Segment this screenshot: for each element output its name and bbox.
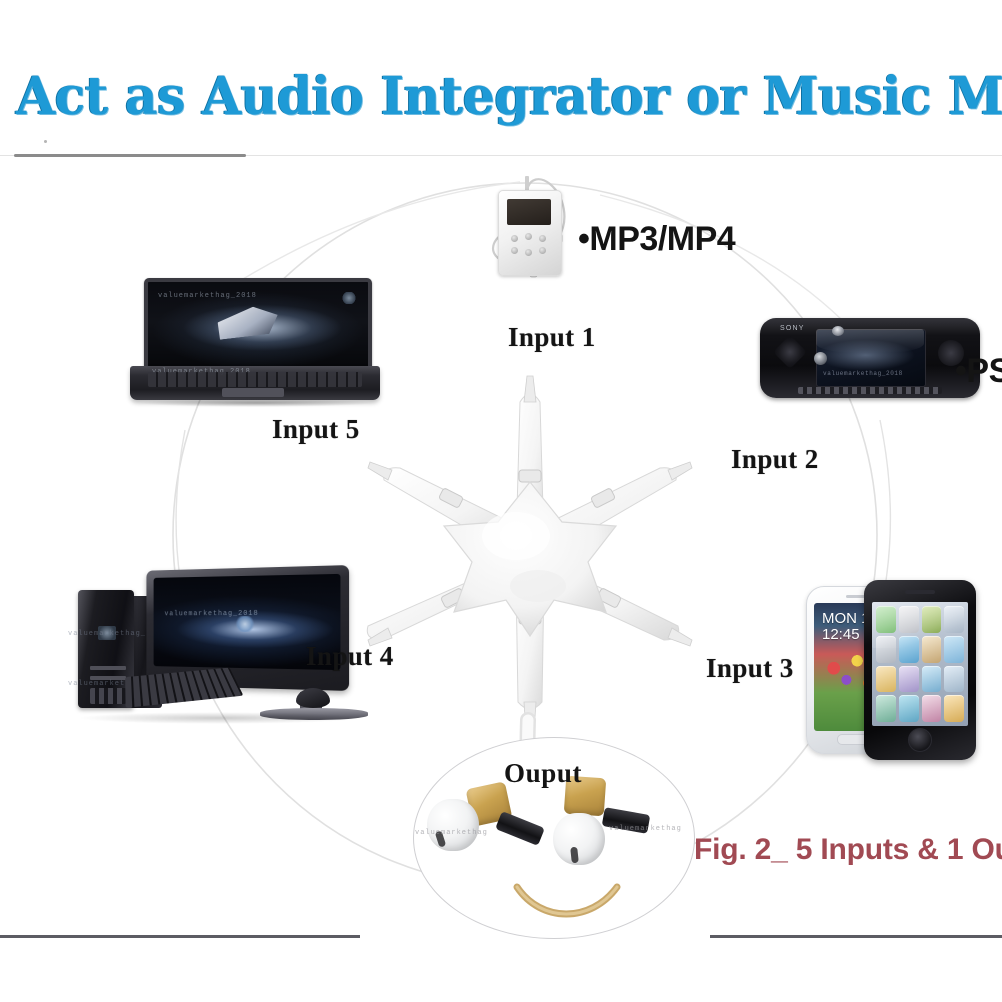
- mp3-button-5[interactable]: [525, 249, 532, 256]
- footer-divider-right: [710, 935, 1002, 938]
- mp3-button-1[interactable]: [511, 235, 518, 242]
- figure-caption: Fig. 2_ 5 Inputs & 1 Output: [694, 833, 1002, 867]
- device-psp: SONY valuemarkethag_2018: [760, 318, 980, 398]
- phone-black-screen-glare: [872, 602, 968, 648]
- app-icon[interactable]: [876, 666, 896, 693]
- pc-front-ports: [90, 688, 126, 704]
- earbud-watermark-left: valuemarkethag: [415, 829, 488, 837]
- splitter-graphic: [330, 350, 730, 750]
- device-label-psp: •PS: [955, 352, 1002, 391]
- app-icon[interactable]: [876, 695, 896, 722]
- app-icon[interactable]: [922, 666, 942, 693]
- app-icon[interactable]: [899, 695, 919, 722]
- psp-home-button[interactable]: [832, 326, 844, 336]
- mp3-body: [498, 190, 562, 276]
- header-divider-accent: [14, 154, 246, 157]
- diagram-canvas: Act as Audio Integrator or Music Mixer v…: [0, 0, 1002, 1002]
- earbud-watermark-right: valuemarkethag: [609, 825, 682, 833]
- laptop-brand-logo: [342, 292, 356, 304]
- phone-black: [864, 580, 976, 760]
- footer-divider-left: [0, 935, 360, 938]
- psp-analog-stick[interactable]: [814, 352, 827, 365]
- app-icon[interactable]: [944, 695, 964, 722]
- mp3-button-3[interactable]: [539, 235, 546, 242]
- pc-mouse: [296, 688, 330, 708]
- earbud-left-strain-relief: [495, 811, 545, 846]
- port-label-input-2: Input 2: [731, 444, 819, 475]
- psp-brand-label: SONY: [780, 325, 805, 332]
- pc-screen-logo: [236, 616, 256, 632]
- port-label-input-1: Input 1: [508, 322, 596, 353]
- app-icon[interactable]: [944, 666, 964, 693]
- psp-watermark: valuemarkethag_2018: [823, 370, 903, 377]
- page-title: Act as Audio Integrator or Music Mixer: [16, 66, 996, 127]
- psp-bottom-strip: [798, 387, 942, 394]
- psp-dpad[interactable]: [773, 335, 807, 369]
- pc-shadow: [78, 712, 358, 724]
- laptop-touchpad: [222, 388, 284, 397]
- psp-body: SONY valuemarkethag_2018: [760, 318, 980, 398]
- port-label-output: Ouput: [504, 758, 582, 789]
- earbud-right-tip: [553, 813, 605, 865]
- decorative-dot: [44, 140, 47, 143]
- app-icon[interactable]: [922, 695, 942, 722]
- mp3-button-2[interactable]: [525, 233, 532, 240]
- device-smartphones: MON 16 12:45: [806, 580, 1002, 760]
- audio-splitter-hub: [330, 350, 730, 750]
- mp3-screen: [507, 199, 551, 225]
- phone-black-speaker: [905, 590, 935, 594]
- device-label-mp3: •MP3/MP4: [578, 220, 735, 259]
- mp3-button-6[interactable]: [539, 247, 546, 254]
- phone-black-home-button[interactable]: [908, 728, 932, 752]
- app-icon[interactable]: [899, 666, 919, 693]
- laptop-watermark: valuemarkethag_2018: [158, 292, 257, 300]
- mp3-button-4[interactable]: [511, 247, 518, 254]
- pc-optical-drive: [90, 666, 126, 670]
- earbud-left-tip: [427, 799, 479, 851]
